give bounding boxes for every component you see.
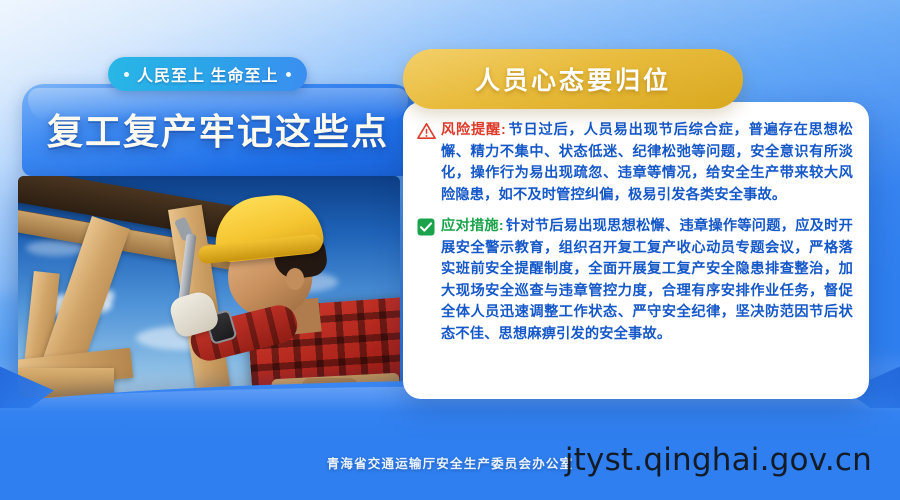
slogan-badge-label: 人民至上 生命至上 xyxy=(137,62,278,86)
construction-worker-photo xyxy=(18,176,400,398)
photo-canvas xyxy=(18,176,400,398)
poster-root: 人民至上 生命至上 复工复产牢记这些点 xyxy=(0,0,900,500)
green-check-icon xyxy=(417,218,441,236)
worker-ear xyxy=(286,268,304,290)
slogan-badge: 人民至上 生命至上 xyxy=(108,57,307,91)
dot-icon-right xyxy=(286,72,291,77)
risk-paragraph-text: 风险提醒:节日过后，人员易出现节后综合症，普遍存在思想松懈、精力不集中、状态低迷… xyxy=(441,120,853,206)
section-banner-label: 人员心态要归位 xyxy=(475,61,671,97)
section-banner: 人员心态要归位 xyxy=(403,49,743,109)
worker-figure xyxy=(154,190,400,398)
risk-paragraph: 风险提醒:节日过后，人员易出现节后综合症，普遍存在思想松懈、精力不集中、状态低迷… xyxy=(417,120,853,206)
page-title: 复工复产牢记这些点 xyxy=(24,96,412,162)
measures-paragraph-text: 应对措施:针对节后易出现思想松懈、违章操作等问题，应及时开展安全警示教育，组织召… xyxy=(441,216,853,345)
warning-triangle-icon xyxy=(417,122,441,140)
measures-body: 针对节后易出现思想松懈、违章操作等问题，应及时开展安全警示教育，组织召开复工复产… xyxy=(441,218,853,342)
content-card: 风险提醒:节日过后，人员易出现节后综合症，普遍存在思想松懈、精力不集中、状态低迷… xyxy=(403,102,869,399)
dot-icon-left xyxy=(124,72,129,77)
measures-label: 应对措施: xyxy=(441,218,504,234)
measures-paragraph: 应对措施:针对节后易出现思想松懈、违章操作等问题，应及时开展安全警示教育，组织召… xyxy=(417,216,853,345)
risk-label: 风险提醒: xyxy=(441,122,506,138)
watermark-url: jtyst.qinghai.gov.cn xyxy=(565,442,872,478)
